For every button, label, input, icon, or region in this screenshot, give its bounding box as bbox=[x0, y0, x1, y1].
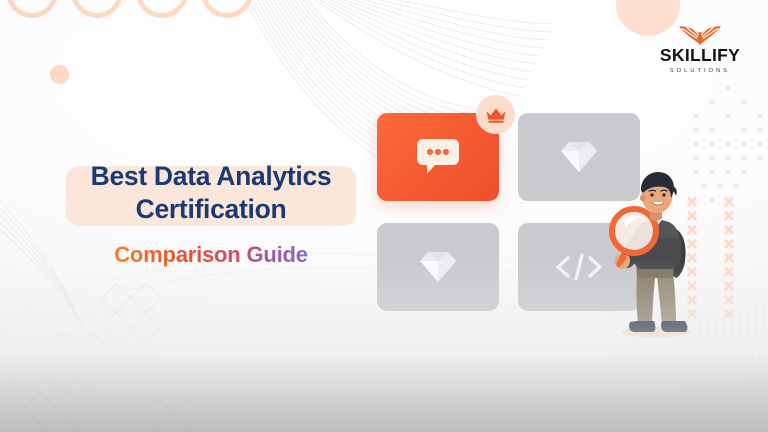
premium-crown-badge bbox=[476, 95, 515, 134]
cross-decoration bbox=[142, 398, 204, 432]
cross-decoration bbox=[28, 396, 80, 432]
x-mark bbox=[723, 252, 735, 264]
x-mark bbox=[723, 224, 735, 236]
diamond-icon bbox=[419, 250, 457, 284]
x-mark bbox=[723, 196, 735, 208]
logo-tagline: SOLUTIONS bbox=[646, 68, 754, 74]
x-mark bbox=[723, 266, 735, 278]
ring-decoration bbox=[136, 0, 188, 18]
crown-icon bbox=[485, 106, 507, 124]
cross-decoration bbox=[100, 282, 162, 344]
card-quality[interactable] bbox=[377, 223, 499, 311]
page-title: Best Data Analytics Certification bbox=[56, 160, 366, 226]
headline-block: Best Data Analytics Certification Compar… bbox=[56, 160, 366, 226]
open-book-icon bbox=[667, 26, 733, 46]
code-brackets-icon bbox=[553, 251, 605, 283]
diamond-icon bbox=[560, 140, 598, 174]
chat-bubble-icon bbox=[415, 137, 461, 177]
x-mark bbox=[723, 280, 735, 292]
banner-canvas: SKILLIFY SOLUTIONS Best Data Analytics C… bbox=[0, 0, 768, 432]
person-with-magnifier bbox=[600, 166, 710, 338]
peach-dot-decoration bbox=[50, 65, 69, 84]
ring-decoration bbox=[6, 0, 58, 18]
brand-logo[interactable]: SKILLIFY SOLUTIONS bbox=[646, 26, 754, 74]
ring-row bbox=[6, 0, 253, 18]
cross-decoration bbox=[46, 330, 108, 392]
page-subtitle: Comparison Guide bbox=[56, 242, 366, 268]
x-mark bbox=[723, 308, 735, 320]
x-mark bbox=[723, 238, 735, 250]
ring-decoration bbox=[201, 0, 253, 18]
page-title-line1: Best Data Analytics bbox=[91, 161, 332, 191]
x-mark bbox=[723, 210, 735, 222]
cross-decoration bbox=[0, 376, 58, 432]
x-mark bbox=[723, 294, 735, 306]
logo-wordmark: SKILLIFY bbox=[646, 47, 754, 65]
page-title-line2: Certification bbox=[136, 194, 287, 224]
ring-decoration bbox=[71, 0, 123, 18]
